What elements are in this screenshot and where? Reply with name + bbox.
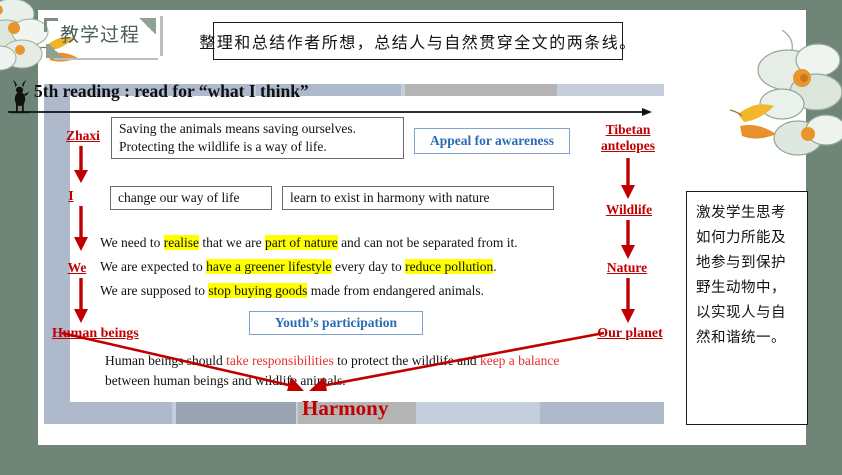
harmony-label: Harmony [302,396,388,421]
sentence-greener-lifestyle: We are expected to have a greener lifest… [100,259,497,275]
sentence-text: every day to [332,259,405,274]
conclusion-paragraph: Human beings should take responsibilitie… [105,351,575,392]
sentence-text: . [493,259,496,274]
action-box-change-way-of-life: change our way of life [110,186,272,210]
down-arrow-icon [617,278,639,329]
header-title-text: 整理和总结作者所想，总结人与自然贯穿全文的两条线。 [199,29,637,53]
header-title-box: 整理和总结作者所想，总结人与自然贯穿全文的两条线。 [213,22,623,60]
quote-box: Saving the animals means saving ourselve… [111,117,404,159]
banner-label: 教学过程 [60,20,140,47]
panel-segment [44,402,172,424]
banner-underline [54,58,158,60]
action-label: learn to exist in harmony with nature [283,190,496,206]
highlighted-phrase: have a greener lifestyle [206,259,332,274]
appeal-label: Appeal for awareness [430,133,554,149]
teacher-note-text: 激发学生思考如何力所能及地参与到保护野生动物中，以实现人与自然和谐统一。 [696,201,799,351]
down-arrow-icon [617,158,639,205]
slide-root: 教学过程 整理和总结作者所想，总结人与自然贯穿全文的两条线。 [0,0,842,475]
chain-label-nature: Nature [590,260,664,276]
quote-line-1: Saving the animals means saving ourselve… [119,120,356,138]
highlighted-phrase: stop buying goods [208,283,307,298]
conclusion-text: to protect the wildlife and [334,353,480,368]
sentence-text: We are supposed to [100,283,208,298]
emphasis-phrase: take responsibilities [226,353,334,368]
sentence-text: that we are [199,235,265,250]
chain-label-wildlife: Wildlife [588,202,670,218]
sentence-stop-buying: We are supposed to stop buying goods mad… [100,283,484,299]
panel-segment [420,402,540,424]
appeal-for-awareness-box: Appeal for awareness [414,128,570,154]
background-bottom-strip [0,445,842,475]
sentence-text: We are expected to [100,259,206,274]
sentence-realise: We need to realise that we are part of n… [100,235,518,251]
chain-label-human-beings: Human beings [52,326,172,342]
conclusion-text: Human beings should [105,353,226,368]
youth-participation-box: Youth’s participation [249,311,423,335]
banner-corner-topright [138,18,156,34]
conclusion-text: between human beings and wildlife animal… [105,373,346,388]
chain-label-our-planet: Our planet [578,326,682,342]
quote-box-lines: Saving the animals means saving ourselve… [112,120,363,156]
youth-label: Youth’s participation [275,315,397,331]
sentence-text: and can not be separated from it. [338,235,518,250]
highlighted-phrase: realise [164,235,199,250]
quote-line-2: Protecting the wildlife is a way of life… [119,138,356,156]
teacher-note-box: 激发学生思考如何力所能及地参与到保护野生动物中，以实现人与自然和谐统一。 [686,191,808,425]
chain-label-tibetan: Tibetan [590,122,666,138]
down-arrow-icon [70,146,92,189]
panel-segment [540,402,664,424]
highlighted-phrase: reduce pollution [405,259,493,274]
chain-label-we: We [56,260,98,276]
chain-label-zhaxi: Zhaxi [56,128,110,144]
panel-segment [176,402,296,424]
reading-title: 5th reading : read for “what I think” [34,81,309,102]
down-arrow-icon [70,206,92,257]
banner-corner-topleft [44,18,58,32]
action-box-harmony-with-nature: learn to exist in harmony with nature [282,186,554,210]
banner-divider-bar [160,16,163,56]
action-label: change our way of life [111,190,246,206]
section-banner: 教学过程 [44,16,156,56]
down-arrow-icon [617,220,639,265]
sentence-text: made from endangered animals. [307,283,484,298]
down-arrow-icon [70,278,92,329]
chain-label-antelopes: antelopes [586,138,670,154]
highlighted-phrase: part of nature [265,235,338,250]
flower-decoration-topright [722,30,842,185]
sentence-text: We need to [100,235,164,250]
chain-label-i: I [56,188,86,204]
emphasis-phrase: keep a balance [480,353,559,368]
